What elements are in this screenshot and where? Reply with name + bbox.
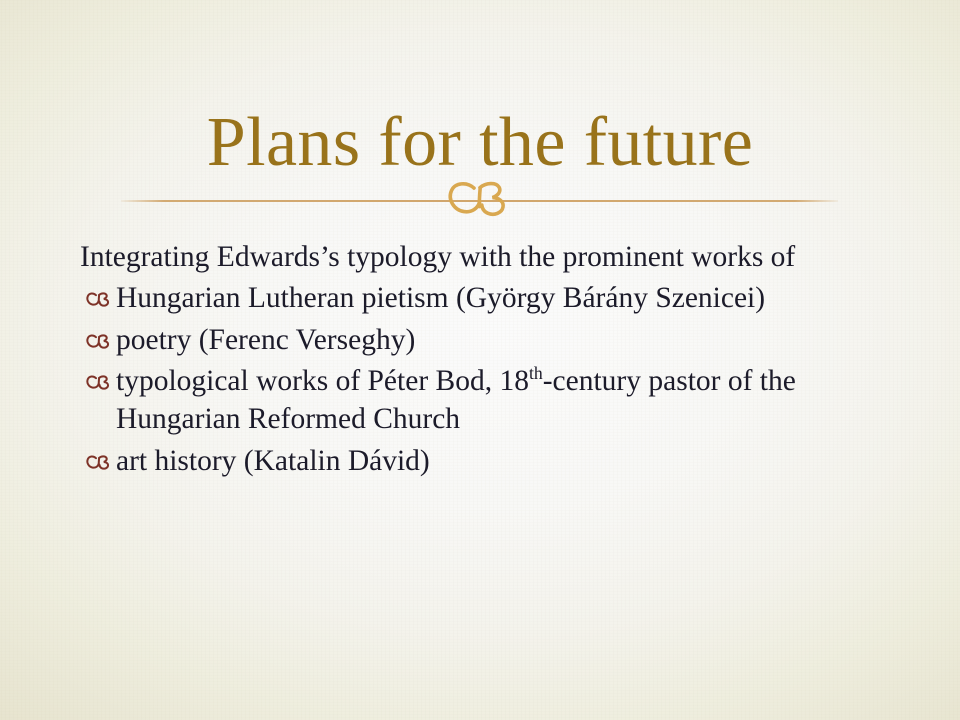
slide-body: Integrating Edwards’s typology with the … xyxy=(80,238,870,482)
list-item: Hungarian Lutheran pietism (György Bárán… xyxy=(80,279,870,317)
list-item-superscript: th xyxy=(529,363,543,383)
list-item: art history (Katalin Dávid) xyxy=(80,442,870,480)
list-item-text: poetry (Ferenc Verseghy) xyxy=(116,321,870,359)
list-item-text: typological works of Péter Bod, 18th-cen… xyxy=(116,362,870,439)
list-item-text-main: Hungarian Lutheran pietism (György Bárán… xyxy=(116,282,765,314)
list-item: typological works of Péter Bod, 18th-cen… xyxy=(80,362,870,439)
cr-flourish-bullet-icon xyxy=(80,279,116,309)
page-title: Plans for the future xyxy=(0,105,960,181)
cr-flourish-bullet-icon xyxy=(80,442,116,472)
list-item-text-main: art history (Katalin Dávid) xyxy=(116,445,430,477)
cr-flourish-bullet-icon xyxy=(80,321,116,351)
list-item-text-main: poetry (Ferenc Verseghy) xyxy=(116,324,415,356)
cb-flourish-ornament xyxy=(434,177,526,223)
list-item-text-main: typological works of Péter Bod, 18 xyxy=(116,365,529,397)
presentation-slide: Plans for the future Integrating Edwards… xyxy=(0,0,960,720)
title-divider xyxy=(121,200,838,202)
list-item-text: art history (Katalin Dávid) xyxy=(116,442,870,480)
list-item: poetry (Ferenc Verseghy) xyxy=(80,321,870,359)
list-item-text: Hungarian Lutheran pietism (György Bárán… xyxy=(116,279,870,317)
cr-flourish-bullet-icon xyxy=(80,362,116,392)
body-intro-paragraph: Integrating Edwards’s typology with the … xyxy=(80,238,870,276)
